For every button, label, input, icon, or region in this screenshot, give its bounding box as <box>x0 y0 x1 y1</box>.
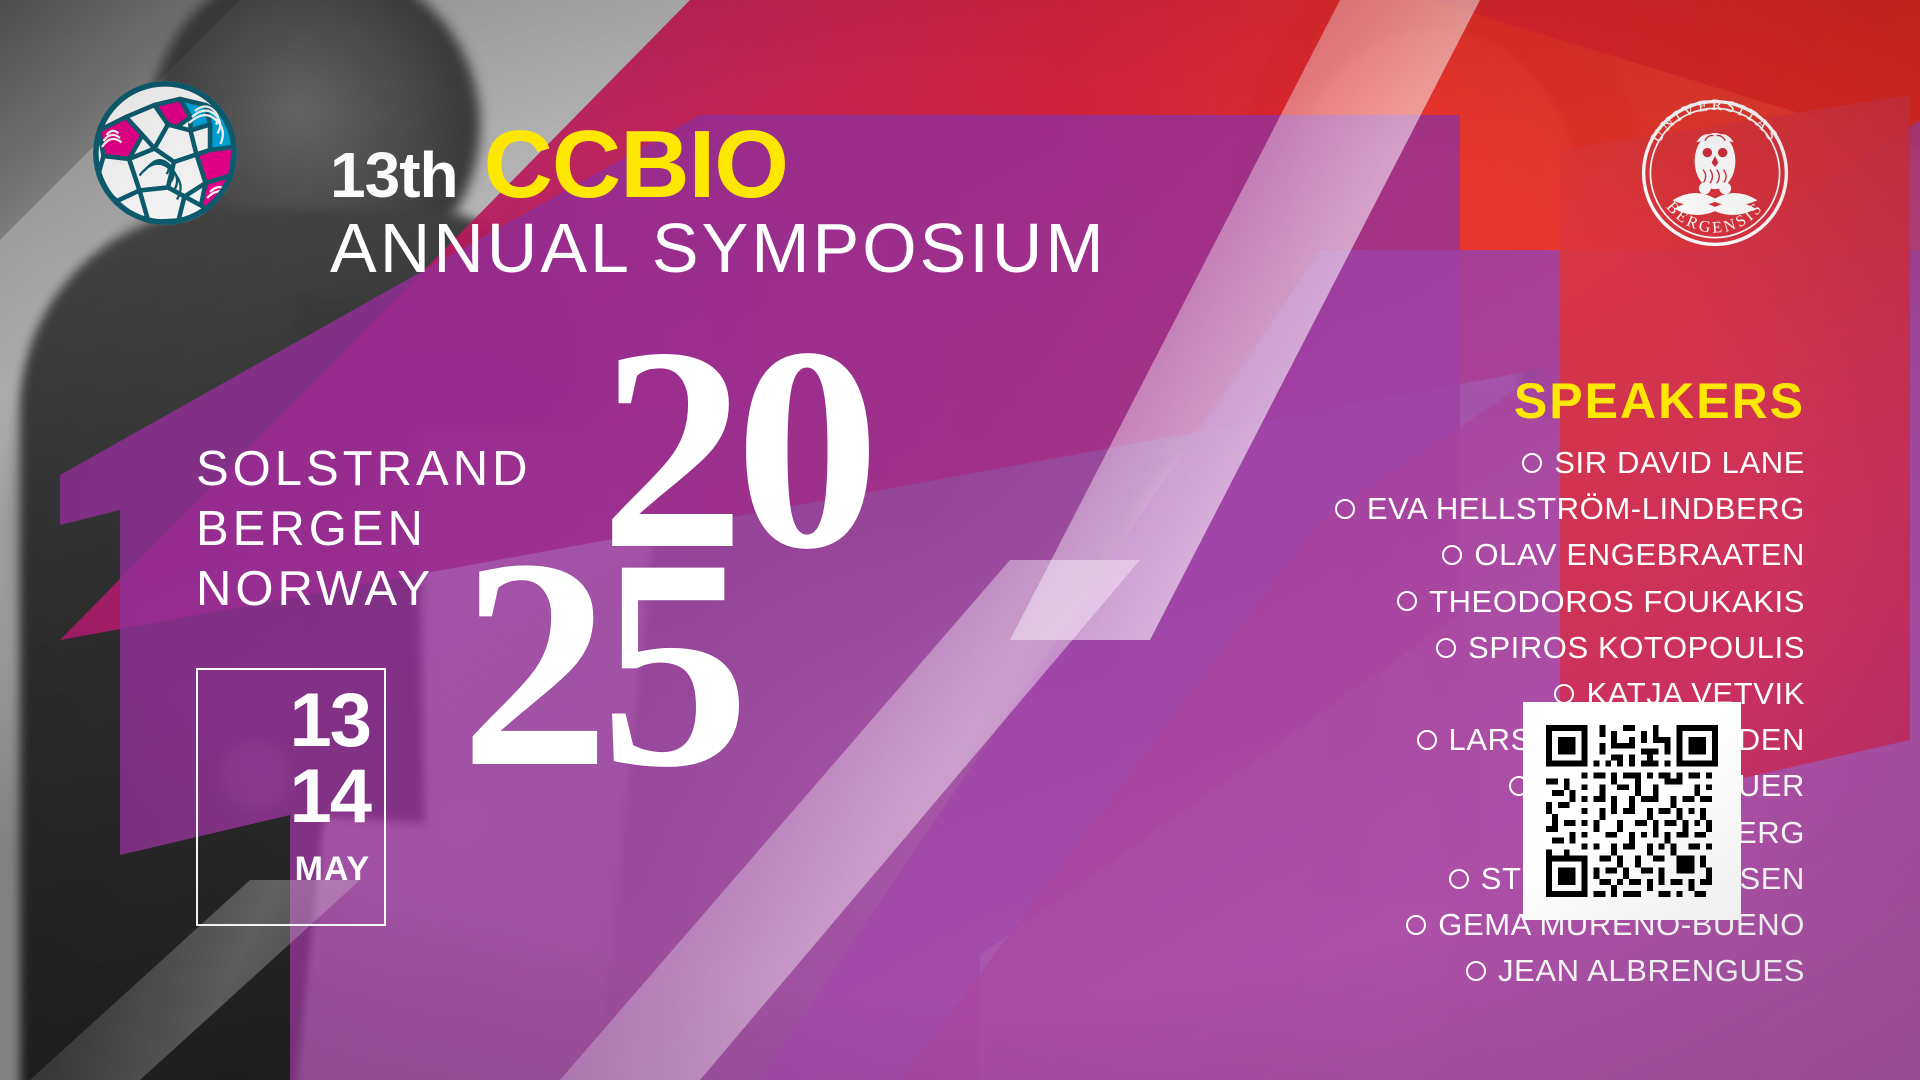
speaker-row: SPIROS KOTOPOULIS <box>1085 629 1805 666</box>
circle-bullet-icon <box>1442 545 1462 565</box>
circle-bullet-icon <box>1449 869 1469 889</box>
speaker-name: JEAN ALBRENGUES <box>1498 953 1805 988</box>
speaker-name: SIR DAVID LANE <box>1554 445 1805 480</box>
date-day-1: 13 <box>289 686 370 756</box>
speaker-name: OLAV ENGEBRAATEN <box>1474 537 1805 572</box>
qr-code-icon[interactable] <box>1546 725 1718 897</box>
circle-bullet-icon <box>1406 915 1426 935</box>
location-line-1: SOLSTRAND <box>196 440 532 500</box>
speaker-row: THEODOROS FOUKAKIS <box>1085 583 1805 620</box>
speaker-row: JEAN ALBRENGUES <box>1085 952 1805 989</box>
date-box: 13 14 MAY <box>196 668 386 926</box>
speakers-heading: SPEAKERS <box>1085 372 1805 430</box>
circle-bullet-icon <box>1554 684 1574 704</box>
title-ordinal: 13th <box>330 138 458 212</box>
circle-bullet-icon <box>1466 961 1486 981</box>
circle-bullet-icon <box>1335 499 1355 519</box>
speaker-row: OLAV ENGEBRAATEN <box>1085 536 1805 573</box>
speaker-row: SIR DAVID LANE <box>1085 444 1805 481</box>
ccbio-logo-icon <box>90 78 240 228</box>
date-day-2: 14 <box>289 762 370 832</box>
speaker-name: EVA HELLSTRÖM-LINDBERG <box>1367 491 1805 526</box>
circle-bullet-icon <box>1397 591 1417 611</box>
circle-bullet-icon <box>1417 730 1437 750</box>
speaker-name: SPIROS KOTOPOULIS <box>1468 630 1805 665</box>
uib-seal-logo: UNIVERSITAS BERGENSIS <box>1630 88 1800 258</box>
date-month: MAY <box>295 850 370 889</box>
speaker-row: EVA HELLSTRÖM-LINDBERG <box>1085 490 1805 527</box>
svg-text:BERGENSIS: BERGENSIS <box>1663 199 1767 237</box>
qr-code-frame[interactable] <box>1523 702 1741 920</box>
title-brand: CCBIO <box>484 110 788 220</box>
circle-bullet-icon <box>1436 638 1456 658</box>
title-block: 13thCCBIO ANNUAL SYMPOSIUM <box>330 110 970 288</box>
speaker-name: THEODOROS FOUKAKIS <box>1429 584 1805 619</box>
year-digits-bottom: 25 <box>460 540 740 786</box>
title-subtitle: ANNUAL SYMPOSIUM <box>330 208 970 288</box>
conference-poster: 13thCCBIO ANNUAL SYMPOSIUM SOLSTRAND BER… <box>0 0 1920 1080</box>
circle-bullet-icon <box>1522 453 1542 473</box>
